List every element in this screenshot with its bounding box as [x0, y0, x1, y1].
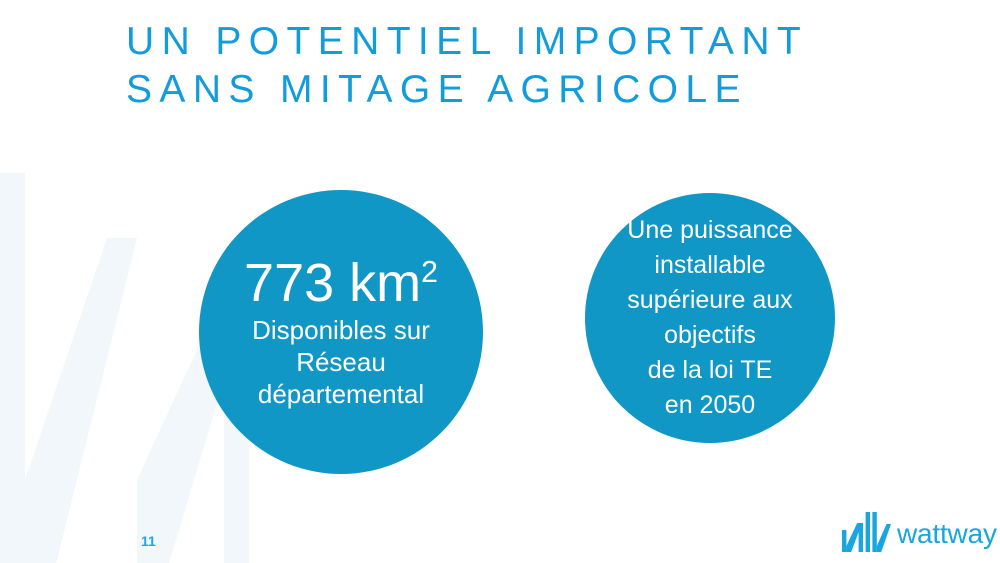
- stat-circle-puissance: Une puissance installable supérieure aux…: [585, 193, 835, 443]
- page-number: 11: [141, 533, 156, 549]
- stat-value-number: 773 km: [244, 253, 421, 313]
- stat-caption-line: en 2050: [627, 388, 792, 423]
- stat-value-surface: 773 km2: [244, 254, 438, 312]
- stat-caption-line: objectifs: [627, 318, 792, 353]
- title-line-2: SANS MITAGE AGRICOLE: [126, 66, 808, 114]
- stat-caption-puissance: Une puissance installable supérieure aux…: [627, 213, 792, 423]
- slide: UN POTENTIEL IMPORTANT SANS MITAGE AGRIC…: [0, 0, 1000, 563]
- stat-caption-line: installable: [627, 248, 792, 283]
- stat-caption-line: de la loi TE: [627, 353, 792, 388]
- page-title: UN POTENTIEL IMPORTANT SANS MITAGE AGRIC…: [126, 18, 808, 114]
- wattway-logo: wattway: [841, 511, 989, 553]
- stat-caption-line: départemental: [252, 378, 430, 410]
- title-line-1: UN POTENTIEL IMPORTANT: [126, 18, 808, 66]
- wattway-w-mark-icon: [841, 512, 891, 552]
- stat-caption-line: Réseau: [252, 346, 430, 378]
- stat-caption-line: Disponibles sur: [252, 314, 430, 346]
- stat-value-exponent: 2: [421, 256, 438, 289]
- stat-caption-line: supérieure aux: [627, 283, 792, 318]
- stat-circle-surface: 773 km2 Disponibles sur Réseau départeme…: [199, 190, 483, 474]
- stat-caption-line: Une puissance: [627, 213, 792, 248]
- wattway-wordmark: wattway: [897, 520, 997, 548]
- stat-caption-surface: Disponibles sur Réseau départemental: [252, 314, 430, 410]
